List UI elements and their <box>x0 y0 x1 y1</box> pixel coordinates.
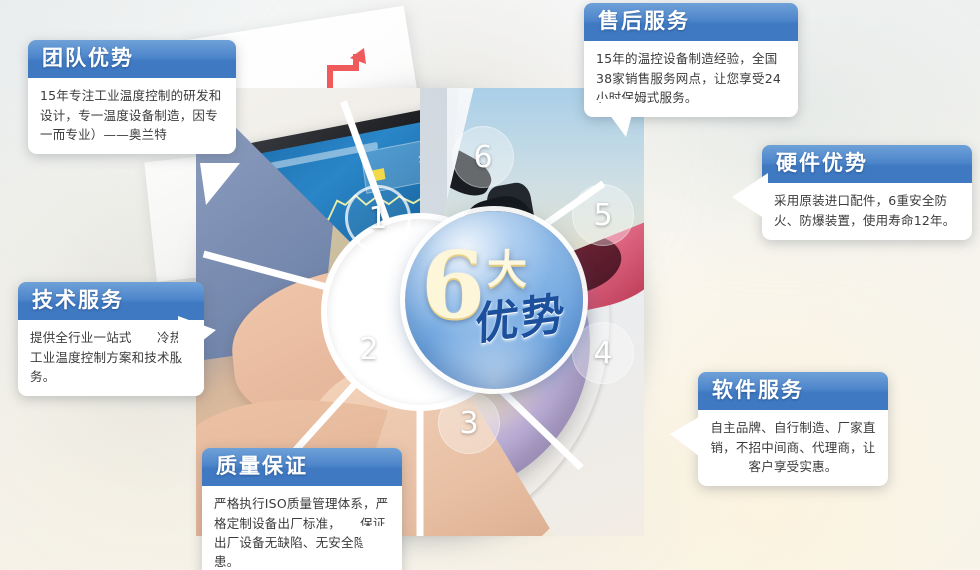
callout-after-sales-service-title: 售后服务 <box>584 3 798 41</box>
wheel-marker-5-label: 5 <box>593 198 612 233</box>
wheel-marker-1[interactable]: 1 <box>345 185 411 251</box>
callout-hardware-advantage-title: 硬件优势 <box>762 145 972 183</box>
wheel-marker-3[interactable]: 3 <box>438 392 500 454</box>
wheel-marker-6[interactable]: 6 <box>452 126 514 188</box>
callout-quality-assurance[interactable]: 质量保证 严格执行ISO质量管理体系，严格定制设备出厂标准， 保证出厂设备无缺陷… <box>202 448 402 570</box>
callout-technical-service-title: 技术服务 <box>18 282 204 320</box>
callout-tail <box>670 414 704 464</box>
callout-team-advantage-title: 团队优势 <box>28 40 236 78</box>
wheel-marker-2-label: 2 <box>359 332 378 367</box>
wheel-marker-1-label: 1 <box>368 201 387 236</box>
callout-hardware-advantage-body: 采用原装进口配件，6重安全防火、防爆装置，使用寿命12年。 <box>762 183 972 240</box>
wheel-marker-6-label: 6 <box>473 140 492 175</box>
callout-quality-assurance-title: 质量保证 <box>202 448 402 486</box>
callout-software-service-title: 软件服务 <box>698 372 888 410</box>
center-badge: 6 大 优势 <box>405 211 583 389</box>
center-badge-suffix: 优势 <box>475 277 567 353</box>
callout-tail <box>358 526 404 570</box>
callout-tail <box>732 173 768 225</box>
callout-tail <box>590 99 636 139</box>
callout-team-advantage[interactable]: 团队优势 15年专注工业温度控制的研发和设计，专一温度设备制造，因专一而专业）—… <box>28 40 236 154</box>
callout-technical-service-body: 提供全行业一站式 冷热工业温度控制方案和技术服务。 <box>18 320 204 396</box>
wheel-marker-3-label: 3 <box>459 406 478 441</box>
callout-technical-service[interactable]: 技术服务 提供全行业一站式 冷热工业温度控制方案和技术服务。 <box>18 282 204 396</box>
infographic-canvas: INTC <box>0 0 980 570</box>
wheel-marker-2[interactable]: 2 <box>338 318 400 380</box>
callout-team-advantage-body: 15年专注工业温度控制的研发和设计，专一温度设备制造，因专一而专业）——奥兰特 <box>28 78 236 154</box>
callout-tail <box>200 163 246 207</box>
callout-software-service-body: 自主品牌、自行制造、厂家直销，不招中间商、代理商，让客户享受实惠。 <box>698 410 888 486</box>
callout-after-sales-service[interactable]: 售后服务 15年的温控设备制造经验，全国38家销售服务网点，让您享受24小时保姆… <box>584 3 798 117</box>
callout-software-service[interactable]: 软件服务 自主品牌、自行制造、厂家直销，不招中间商、代理商，让客户享受实惠。 <box>698 372 888 486</box>
wheel-marker-4-label: 4 <box>593 336 612 371</box>
callout-tail <box>178 316 218 362</box>
callout-hardware-advantage[interactable]: 硬件优势 采用原装进口配件，6重安全防火、防爆装置，使用寿命12年。 <box>762 145 972 240</box>
